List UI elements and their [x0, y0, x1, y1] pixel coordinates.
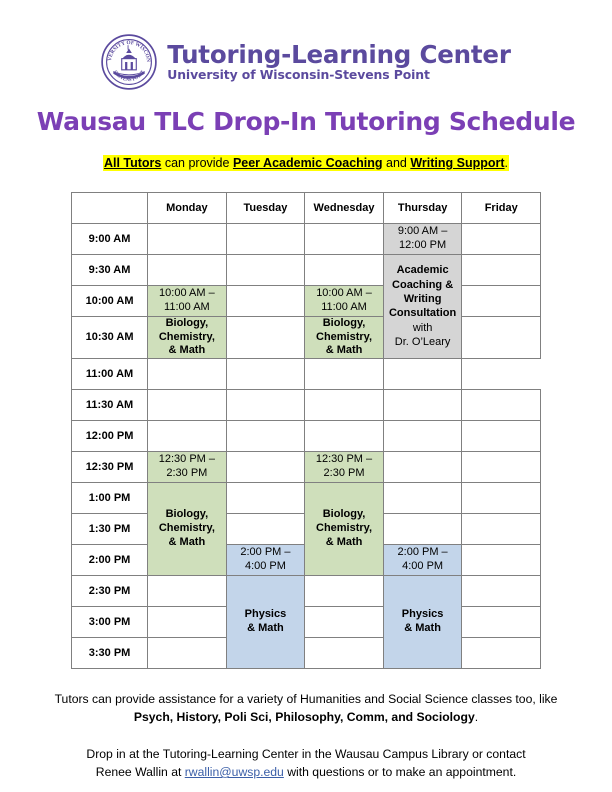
cell-tue-1200[interactable] — [226, 421, 305, 452]
subject-line-2: Chemistry, — [316, 331, 372, 343]
subject-line-1: Biology, — [166, 317, 209, 329]
cell-fri-1000[interactable] — [462, 285, 541, 316]
cell-fri-0930[interactable] — [462, 254, 541, 285]
cell-wed-1200[interactable] — [305, 421, 384, 452]
cell-mon-1430[interactable] — [148, 576, 227, 607]
subject-line-1: Physics — [245, 608, 287, 620]
table-row: 3:00 PM — [72, 607, 541, 638]
footer-paragraph-humanities: Tutors can provide assistance for a vari… — [0, 691, 612, 726]
block-tutor-name: Dr. O’Leary — [395, 336, 451, 348]
cell-tue-0930[interactable] — [226, 254, 305, 285]
time-label: 12:00 PM — [72, 421, 148, 452]
services-highlight-line: All Tutors can provide Peer Academic Coa… — [0, 154, 612, 173]
subject-line-2: & Math — [404, 622, 441, 634]
block-thursday-academic-coaching-writing-consultation[interactable]: Academic Coaching & Writing Consultation… — [383, 254, 462, 358]
table-row: 12:00 PM — [72, 421, 541, 452]
header-wednesday: Wednesday — [305, 192, 384, 223]
time-label: 3:00 PM — [72, 607, 148, 638]
cell-tue-1130[interactable] — [226, 390, 305, 421]
cell-tue-0900[interactable] — [226, 223, 305, 254]
subject-line-3: & Math — [326, 344, 363, 356]
subject-line-2: Chemistry, — [316, 522, 372, 534]
table-row: 11:00 AM — [72, 359, 541, 390]
block-wednesday-morning-subjects[interactable]: Biology, Chemistry, & Math — [305, 316, 384, 358]
header-thursday: Thursday — [383, 192, 462, 223]
subject-line-1: Biology, — [323, 508, 366, 520]
cell-tue-1230[interactable] — [226, 452, 305, 483]
time-label: 12:30 PM — [72, 452, 148, 483]
cell-thu-1230[interactable] — [383, 452, 462, 483]
footer-paragraph-contact: Drop in at the Tutoring-Learning Center … — [0, 746, 612, 781]
subject-line-1: Biology, — [323, 317, 366, 329]
range-line-2: 11:00 AM — [321, 301, 367, 313]
range-line-1: 2:00 PM – — [240, 546, 290, 558]
block-monday-afternoon-range[interactable]: 12:30 PM –2:30 PM — [148, 452, 227, 483]
header-friday: Friday — [462, 192, 541, 223]
cell-wed-1100[interactable] — [305, 359, 384, 390]
block-title-line-2: Coaching & — [392, 279, 453, 291]
cell-fri-1100[interactable] — [383, 359, 462, 390]
subject-line-2: Chemistry, — [159, 331, 215, 343]
cell-mon-0900[interactable] — [148, 223, 227, 254]
cell-fri-1400[interactable] — [462, 545, 541, 576]
block-thursday-afternoon-subjects[interactable]: Physics & Math — [383, 576, 462, 669]
block-wednesday-afternoon-subjects[interactable]: Biology, Chemistry, & Math — [305, 483, 384, 576]
brand-subtitle: University of Wisconsin-Stevens Point — [167, 69, 510, 81]
cell-thu-1130[interactable] — [383, 390, 462, 421]
cell-wed-1500[interactable] — [305, 607, 384, 638]
table-row: 12:30 PM 12:30 PM –2:30 PM 12:30 PM –2:3… — [72, 452, 541, 483]
cell-fri-1130[interactable] — [462, 390, 541, 421]
time-label: 10:30 AM — [72, 316, 148, 358]
range-line-1: 9:00 AM – — [398, 225, 448, 237]
block-thursday-afternoon-range[interactable]: 2:00 PM –4:00 PM — [383, 545, 462, 576]
range-line-2: 4:00 PM — [402, 560, 443, 572]
block-title-line-3: Writing — [404, 293, 442, 305]
cell-wed-1430[interactable] — [305, 576, 384, 607]
cell-mon-1130[interactable] — [148, 390, 227, 421]
block-monday-afternoon-subjects[interactable]: Biology, Chemistry, & Math — [148, 483, 227, 576]
cell-wed-1130[interactable] — [305, 390, 384, 421]
cell-mon-1500[interactable] — [148, 607, 227, 638]
subject-line-1: Biology, — [166, 508, 209, 520]
subject-line-2: Chemistry, — [159, 522, 215, 534]
cell-fri-1300[interactable] — [462, 483, 541, 514]
time-label: 11:00 AM — [72, 359, 148, 390]
cell-thu-1200[interactable] — [383, 421, 462, 452]
cell-fri-1500[interactable] — [462, 607, 541, 638]
cell-wed-0930[interactable] — [305, 254, 384, 285]
cell-mon-1200[interactable] — [148, 421, 227, 452]
range-line-1: 12:30 PM – — [316, 453, 372, 465]
time-label: 9:00 AM — [72, 223, 148, 254]
subject-line-3: & Math — [169, 536, 206, 548]
footer-p1-period: . — [475, 710, 478, 724]
drop-in-schedule-table: Monday Tuesday Wednesday Thursday Friday… — [71, 192, 541, 669]
block-tuesday-afternoon-range[interactable]: 2:00 PM –4:00 PM — [226, 545, 305, 576]
footer-p2-line1: Drop in at the Tutoring-Learning Center … — [86, 747, 525, 761]
range-line-1: 10:00 AM – — [159, 287, 215, 299]
block-wednesday-afternoon-range[interactable]: 12:30 PM –2:30 PM — [305, 452, 384, 483]
subject-line-2: & Math — [247, 622, 284, 634]
range-line-2: 4:00 PM — [245, 560, 286, 572]
subtitle-text-6: . — [505, 156, 508, 170]
range-line-1: 2:00 PM – — [398, 546, 448, 558]
subtitle-text-2: can provide — [161, 156, 233, 170]
cell-thu-1330[interactable] — [383, 514, 462, 545]
time-label: 3:30 PM — [72, 638, 148, 669]
service-all-tutors: All Tutors — [104, 156, 161, 170]
footer-p2-pre: Renee Wallin at — [96, 765, 185, 779]
cell-tue-1030[interactable] — [226, 316, 305, 358]
time-label: 1:00 PM — [72, 483, 148, 514]
table-row: 3:30 PM — [72, 638, 541, 669]
range-line-2: 12:00 PM — [399, 239, 446, 251]
cell-wed-1530[interactable] — [305, 638, 384, 669]
table-header-row: Monday Tuesday Wednesday Thursday Friday — [72, 192, 541, 223]
header-time-corner — [72, 192, 148, 223]
service-writing-support: Writing Support — [410, 156, 504, 170]
table-row: 9:30 AM Academic Coaching & Writing Cons… — [72, 254, 541, 285]
cell-fri-0900[interactable] — [462, 223, 541, 254]
page-title: Wausau TLC Drop-In Tutoring Schedule — [0, 107, 612, 136]
cell-tue-1100[interactable] — [226, 359, 305, 390]
range-line-1: 12:30 PM – — [159, 453, 215, 465]
subject-line-1: Physics — [402, 608, 444, 620]
schedule-table-wrapper: Monday Tuesday Wednesday Thursday Friday… — [71, 192, 541, 669]
footer-subject-list: Psych, History, Poli Sci, Philosophy, Co… — [134, 710, 475, 724]
cell-thu-1300[interactable] — [383, 483, 462, 514]
brand-header: UNIVERSITY OF WISCONSIN STEVENS POINT Tu… — [0, 0, 612, 91]
cell-mon-1100[interactable] — [148, 359, 227, 390]
time-label: 11:30 AM — [72, 390, 148, 421]
subject-line-3: & Math — [326, 536, 363, 548]
table-row: 2:30 PM Physics & Math Physics & Math — [72, 576, 541, 607]
table-row: 9:00 AM 9:00 AM –12:00 PM — [72, 223, 541, 254]
table-row: 11:30 AM — [72, 390, 541, 421]
cell-tue-1300[interactable] — [226, 483, 305, 514]
header-monday: Monday — [148, 192, 227, 223]
block-title-line-4: Consultation — [389, 307, 456, 319]
block-thursday-coaching-range[interactable]: 9:00 AM –12:00 PM — [383, 223, 462, 254]
block-wednesday-morning-range[interactable]: 10:00 AM –11:00 AM — [305, 285, 384, 316]
block-monday-morning-subjects[interactable]: Biology, Chemistry, & Math — [148, 316, 227, 358]
cell-fri-1430[interactable] — [462, 576, 541, 607]
cell-tue-1000[interactable] — [226, 285, 305, 316]
time-label: 2:00 PM — [72, 545, 148, 576]
cell-fri-1330[interactable] — [462, 514, 541, 545]
brand-title: Tutoring-Learning Center — [167, 43, 510, 68]
cell-fri-1530[interactable] — [462, 638, 541, 669]
block-monday-morning-range[interactable]: 10:00 AM –11:00 AM — [148, 285, 227, 316]
subject-line-3: & Math — [169, 344, 206, 356]
service-peer-academic-coaching: Peer Academic Coaching — [233, 156, 383, 170]
cell-mon-1530[interactable] — [148, 638, 227, 669]
table-row: 10:00 AM 10:00 AM –11:00 AM 10:00 AM –11… — [72, 285, 541, 316]
time-label: 10:00 AM — [72, 285, 148, 316]
range-line-1: 10:00 AM – — [316, 287, 372, 299]
cell-wed-0900[interactable] — [305, 223, 384, 254]
subtitle-text-4: and — [383, 156, 411, 170]
table-row: 10:30 AM Biology, Chemistry, & Math Biol… — [72, 316, 541, 358]
footer-p1-line1: Tutors can provide assistance for a vari… — [55, 692, 558, 706]
table-row: 1:00 PM Biology, Chemistry, & Math Biolo… — [72, 483, 541, 514]
header-tuesday: Tuesday — [226, 192, 305, 223]
cell-tue-1330[interactable] — [226, 514, 305, 545]
cell-fri-1030[interactable] — [462, 316, 541, 358]
range-line-2: 11:00 AM — [164, 301, 210, 313]
cell-mon-0930[interactable] — [148, 254, 227, 285]
time-label: 1:30 PM — [72, 514, 148, 545]
time-label: 9:30 AM — [72, 254, 148, 285]
range-line-2: 2:30 PM — [166, 467, 207, 479]
cell-fri-1230[interactable] — [462, 452, 541, 483]
contact-email-link[interactable]: rwallin@uwsp.edu — [185, 765, 284, 779]
footer-p2-post: with questions or to make an appointment… — [284, 765, 516, 779]
uwsp-university-seal-icon: UNIVERSITY OF WISCONSIN STEVENS POINT — [101, 34, 157, 90]
block-title-line-1: Academic — [397, 264, 449, 276]
time-label: 2:30 PM — [72, 576, 148, 607]
block-tuesday-afternoon-subjects[interactable]: Physics & Math — [226, 576, 305, 669]
block-with-label: with — [413, 322, 433, 334]
cell-fri-1200[interactable] — [462, 421, 541, 452]
range-line-2: 2:30 PM — [324, 467, 365, 479]
footer-notes: Tutors can provide assistance for a vari… — [0, 691, 612, 782]
